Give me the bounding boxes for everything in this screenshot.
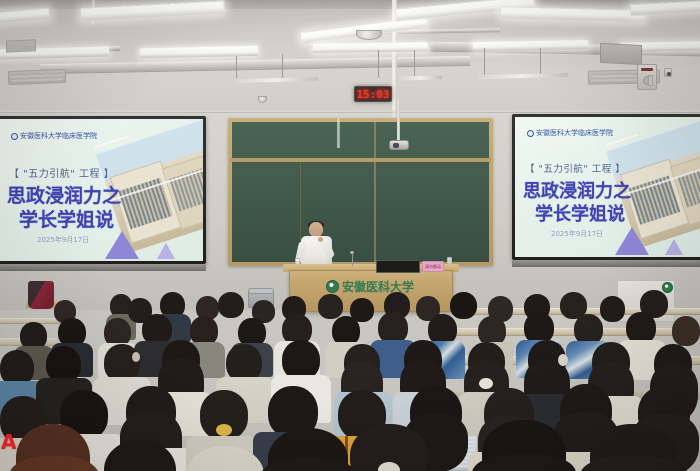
microphone-stand-left xyxy=(352,254,353,266)
screen-right-bottom-bar xyxy=(512,260,700,267)
slide-bracket-line: 【 "五力引航" 工程 】 xyxy=(9,165,114,180)
projection-screen-right: 安徽医科大学临床医学院 【 "五力引航" 工程 】 思政浸润力之 学长学姐说 2… xyxy=(512,114,700,260)
person-head xyxy=(218,292,244,318)
person-head xyxy=(672,316,700,346)
screen-left-bottom-bar xyxy=(0,264,206,271)
wall-control-panel[interactable] xyxy=(637,64,657,90)
slide-date-right: 2025年9月17日 xyxy=(551,229,603,239)
podium-pink-sign: 请勿搬动 xyxy=(422,261,444,272)
slide-title-line-2-right: 学长学姐说 xyxy=(535,200,625,226)
blackboard-vertical-seam xyxy=(374,122,376,262)
slide-triangle-large xyxy=(105,231,139,259)
red-black-jacket-on-chair xyxy=(28,281,54,309)
slide-institution-logo-right: 安徽医科大学临床医学院 xyxy=(527,128,613,138)
panel-switch[interactable] xyxy=(648,75,653,86)
slide-date: 2025年9月17日 xyxy=(37,235,89,245)
ceiling-fixture-bar-3 xyxy=(478,73,568,79)
light-hanger-5 xyxy=(484,48,485,76)
presenter-hand-holding-mic xyxy=(318,237,323,242)
university-emblem-icon-right xyxy=(527,130,534,137)
ceiling-vent-left xyxy=(8,69,66,85)
ceiling-sensor-dome xyxy=(258,96,267,103)
ceiling-speaker-dome xyxy=(356,30,382,40)
slide-triangle-small xyxy=(157,243,175,259)
person-head xyxy=(282,340,320,380)
slide-triangle-small-right xyxy=(665,239,683,255)
slide-institution-logo: 安徽医科大学临床医学院 xyxy=(11,131,97,141)
podium-water-cup xyxy=(295,258,300,265)
blackboard-pole-left xyxy=(337,118,340,148)
scrunchie-icon xyxy=(479,378,493,389)
light-hanger-4 xyxy=(414,50,415,78)
slide-logo-text: 安徽医科大学临床医学院 xyxy=(20,131,97,141)
podium-monitor[interactable] xyxy=(376,260,420,273)
slide-left: 安徽医科大学临床医学院 【 "五力引航" 工程 】 思政浸润力之 学长学姐说 2… xyxy=(0,119,203,261)
hair-clip-icon xyxy=(558,354,568,366)
panel-led xyxy=(641,68,653,71)
presenter-white-shirt xyxy=(300,222,334,268)
university-emblem-icon xyxy=(11,133,18,140)
podium-logo-subtext: ANHUI MEDICAL UNIVERSITY xyxy=(343,289,391,293)
corner-watermark: A xyxy=(1,430,15,454)
slide-logo-text-right: 安徽医科大学临床医学院 xyxy=(536,128,613,138)
slide-title-line-1: 思政浸润力之 xyxy=(7,181,121,208)
presenter-head xyxy=(309,222,323,237)
projector-mount-pole xyxy=(397,100,400,144)
ceiling-light-5 xyxy=(0,7,50,24)
light-hanger-3 xyxy=(378,50,379,78)
university-seal-icon-wall xyxy=(662,282,673,293)
right-wall-logo xyxy=(662,282,673,293)
podium-water-cup-2 xyxy=(447,257,452,264)
slide-triangle-large-right xyxy=(615,227,649,255)
projection-screen-left: 安徽医科大学临床医学院 【 "五力引航" 工程 】 思政浸润力之 学长学姐说 2… xyxy=(0,116,206,264)
blackboard-center-rail xyxy=(230,158,491,162)
light-hanger-1 xyxy=(236,56,237,78)
university-seal-icon xyxy=(326,280,339,293)
hair-clip-icon xyxy=(132,352,140,362)
ac-duct-box-left xyxy=(6,39,36,53)
ceiling-light-8 xyxy=(140,46,258,58)
ceiling-pipe-upper xyxy=(40,56,470,74)
wall-seam-line xyxy=(0,112,700,113)
hair-tie-icon xyxy=(378,462,400,471)
slide-title-line-2: 学长学姐说 xyxy=(19,205,114,232)
person-head xyxy=(450,292,477,319)
blackboard-surface xyxy=(232,122,489,262)
ceiling-fixture-bar-1 xyxy=(234,77,318,83)
light-hanger-6 xyxy=(540,48,541,76)
slide-bracket-line-right: 【 "五力引航" 工程 】 xyxy=(525,161,625,175)
person-head xyxy=(318,294,343,319)
light-hanger-2 xyxy=(282,54,283,78)
slide-right: 安徽医科大学临床医学院 【 "五力引航" 工程 】 思政浸润力之 学长学姐说 2… xyxy=(515,117,700,257)
ceiling-projector xyxy=(389,140,409,150)
person-head xyxy=(600,296,625,322)
clock-time-display: 15:03 xyxy=(356,88,389,101)
ceiling xyxy=(0,0,700,118)
microphone-head-icon xyxy=(350,251,354,254)
ceiling-fixture-bar-2 xyxy=(400,75,442,80)
ceiling-light-4 xyxy=(500,6,645,23)
lecture-hall-photo: 15:03 xyxy=(0,0,700,471)
ac-duct-box xyxy=(600,43,642,65)
projector-lens-icon xyxy=(393,143,399,148)
hair-tie-icon xyxy=(216,424,232,436)
ceiling-light-9 xyxy=(313,42,428,53)
blackboard xyxy=(228,118,493,266)
security-camera-icon xyxy=(664,68,672,77)
wall-digital-clock: 15:03 xyxy=(354,86,392,102)
